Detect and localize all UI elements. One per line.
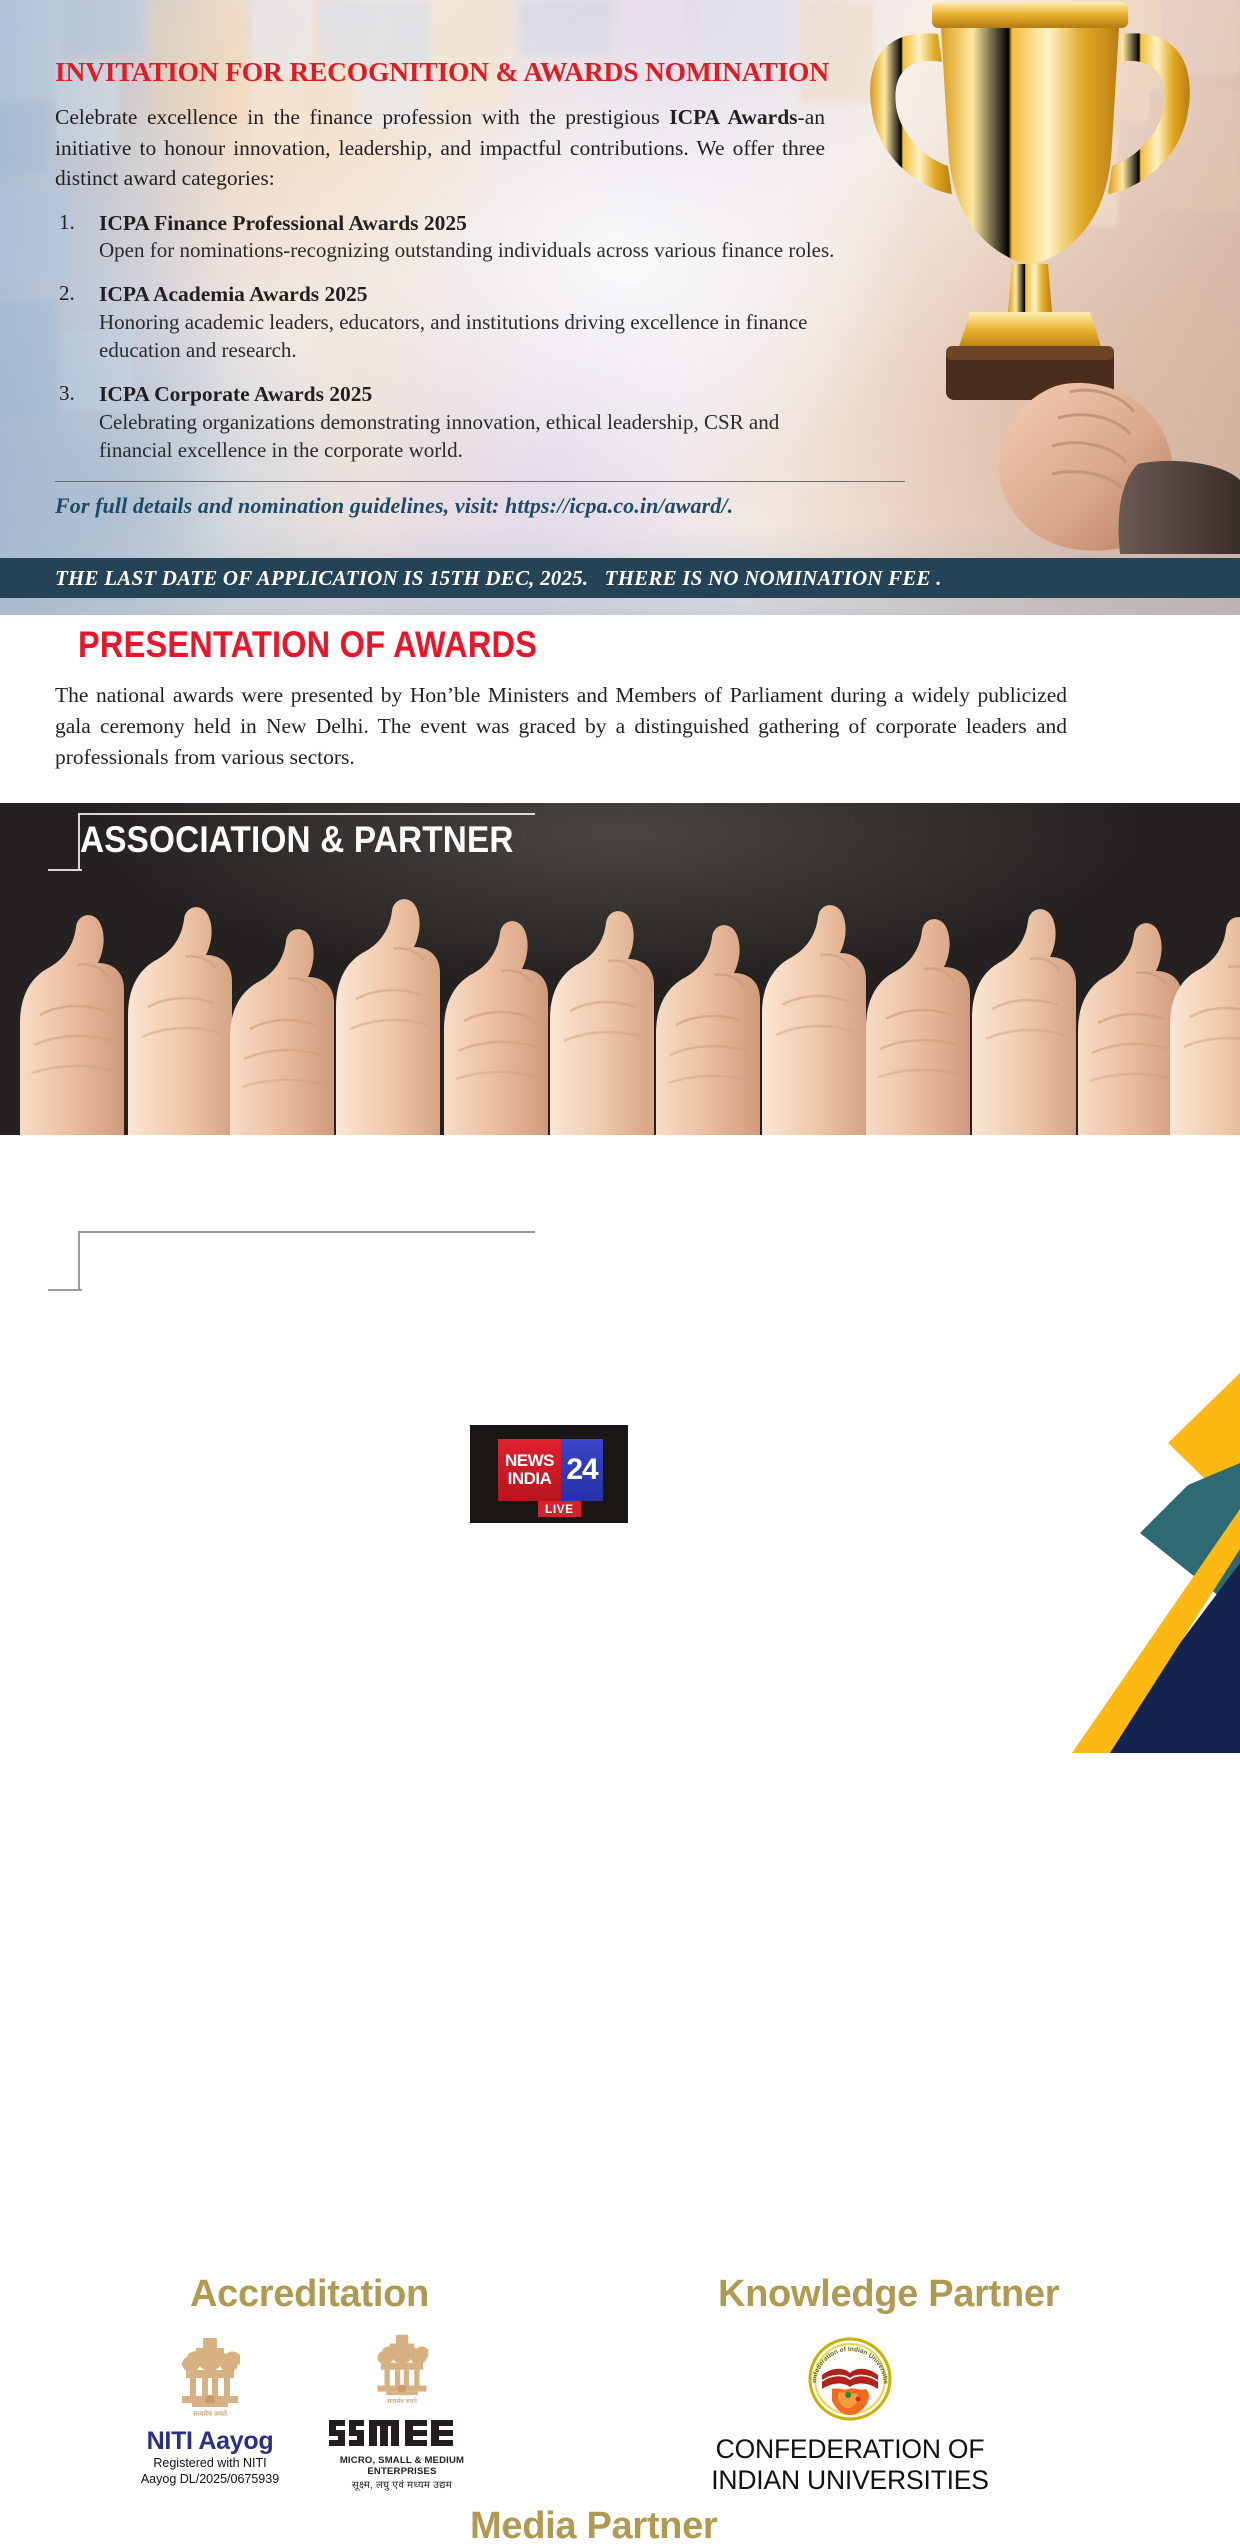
list-number: 1. <box>59 210 75 235</box>
list-number: 3. <box>59 381 75 406</box>
association-partner-band: ASSOCIATION & PARTNER <box>0 803 1240 1135</box>
association-heading: ASSOCIATION & PARTNER <box>80 819 514 861</box>
svg-text:सत्यमेव जयते: सत्यमेव जयते <box>387 2397 417 2405</box>
accreditation-label: Accreditation <box>190 2273 429 2316</box>
india-text: INDIA <box>508 1470 552 1487</box>
niti-aayog-logo: सत्यमेव जयते NITI Aayog Registered with … <box>130 2330 290 2487</box>
news-india-24-logo: NEWS INDIA 24 LIVE <box>470 1425 628 1523</box>
deadline-banner: THE LAST DATE OF APPLICATION IS 15TH DEC… <box>0 558 1240 598</box>
niti-registration-line-2: Aayog DL/2025/0675939 <box>130 2472 290 2488</box>
svg-text:सत्यमेव जयते: सत्यमेव जयते <box>193 2409 228 2418</box>
category-title: ICPA Academia Awards 2025 <box>99 281 855 308</box>
ciu-name-line-1: CONFEDERATION OF <box>660 2434 1040 2465</box>
msme-hindi-subtitle: सूक्ष्म, लघु एवं मध्यम उद्यम <box>322 2477 482 2491</box>
news-text: NEWS <box>505 1453 554 1469</box>
page-title: PRESENTATION OF AWARDS <box>78 624 537 666</box>
news-india-wordmark: NEWS INDIA <box>498 1439 561 1501</box>
intro-bold-icpa-awards: ICPA Awards <box>669 105 797 129</box>
list-item: 1. ICPA Finance Professional Awards 2025… <box>55 210 855 266</box>
ashoka-emblem-icon: सत्यमेव जयते <box>367 2327 437 2409</box>
corner-decoration-graphic <box>990 1313 1240 1753</box>
deadline-text: THE LAST DATE OF APPLICATION IS 15TH DEC… <box>0 566 942 591</box>
list-number: 2. <box>59 281 75 306</box>
invitation-title: INVITATION FOR RECOGNITION & AWARDS NOMI… <box>55 55 855 88</box>
intro-part-1: Celebrate excellence in the finance prof… <box>55 105 669 129</box>
category-title: ICPA Finance Professional Awards 2025 <box>99 210 855 237</box>
invitation-intro: Celebrate excellence in the finance prof… <box>55 102 825 194</box>
award-categories-list: 1. ICPA Finance Professional Awards 2025… <box>55 210 855 465</box>
msme-wordmark-icon <box>327 2416 477 2450</box>
ciu-seal-icon: Confederation of Indian Universities <box>796 2335 904 2423</box>
live-badge: LIVE <box>538 1501 581 1517</box>
category-description: Honoring academic leaders, educators, an… <box>99 309 855 365</box>
channel-number-block: 24 <box>561 1439 603 1501</box>
news-india-24-badge: NEWS INDIA 24 <box>498 1439 603 1501</box>
ciu-name-line-2: INDIAN UNIVERSITIES <box>660 2465 1040 2496</box>
hero-section: INVITATION FOR RECOGNITION & AWARDS NOMI… <box>0 0 1240 615</box>
category-description: Celebrating organizations demonstrating … <box>99 409 855 465</box>
msme-logo: सत्यमेव जयते MICRO, SMALL & MEDIUM ENTER… <box>322 2327 482 2491</box>
media-partner-label: Media Partner <box>470 2505 717 2548</box>
category-description: Open for nominations-recognizing outstan… <box>99 237 855 265</box>
knowledge-partner-label: Knowledge Partner <box>718 2273 1059 2316</box>
niti-registration-line-1: Registered with NITI <box>130 2456 290 2472</box>
confederation-indian-universities-logo: Confederation of Indian Universities CON… <box>660 2335 1040 2497</box>
channel-number: 24 <box>566 1453 597 1487</box>
thumbs-up-hands-image <box>0 885 1240 1135</box>
list-item: 2. ICPA Academia Awards 2025 Honoring ac… <box>55 281 855 365</box>
hero-text-block: INVITATION FOR RECOGNITION & AWARDS NOMI… <box>55 55 855 519</box>
niti-aayog-name: NITI Aayog <box>130 2427 290 2456</box>
ashoka-emblem-icon: सत्यमेव जयते <box>170 2330 250 2422</box>
nomination-guidelines-link[interactable]: For full details and nomination guidelin… <box>55 493 855 519</box>
trophy-image <box>820 0 1240 554</box>
category-title: ICPA Corporate Awards 2025 <box>99 381 855 408</box>
msme-subtitle: MICRO, SMALL & MEDIUM ENTERPRISES <box>322 2455 482 2477</box>
list-item: 3. ICPA Corporate Awards 2025 Celebratin… <box>55 381 855 465</box>
divider-rule <box>55 481 905 483</box>
presentation-body-text: The national awards were presented by Ho… <box>55 680 1067 774</box>
